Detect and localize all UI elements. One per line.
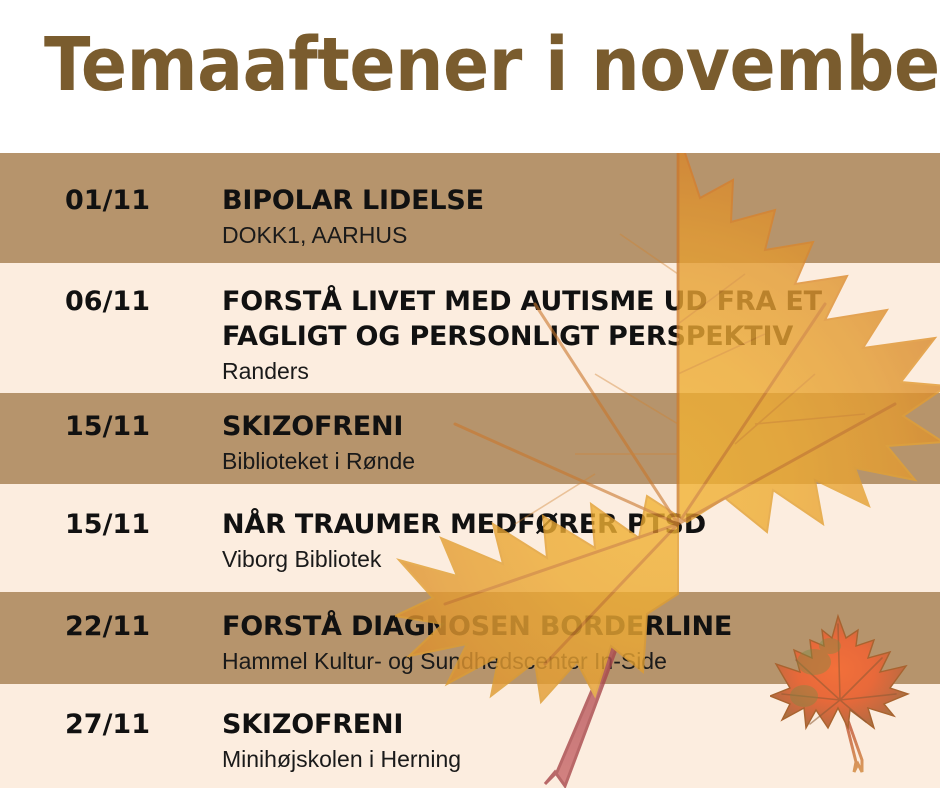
event-list: 01/11 BIPOLAR LIDELSE DOKK1, AARHUS 06/1… [0,153,940,788]
event-row: 15/11 SKIZOFRENI Biblioteket i Rønde [0,393,940,484]
event-venue: Viborg Bibliotek [222,545,930,574]
event-title: NÅR TRAUMER MEDFØRER PTSD [222,507,930,542]
event-date: 15/11 [65,509,150,540]
event-title: BIPOLAR LIDELSE [222,183,930,218]
event-row: 22/11 FORSTÅ DIAGNOSEN BORDERLINE Hammel… [0,592,940,684]
poster-header: Temaaftener i november [0,0,940,153]
event-text-block: FORSTÅ DIAGNOSEN BORDERLINE Hammel Kultu… [222,609,930,676]
event-row: 06/11 FORSTÅ LIVET MED AUTISME UD FRA ET… [0,263,940,393]
event-row: 15/11 NÅR TRAUMER MEDFØRER PTSD Viborg B… [0,484,940,592]
event-text-block: FORSTÅ LIVET MED AUTISME UD FRA ET FAGLI… [222,284,930,386]
event-title: FORSTÅ LIVET MED AUTISME UD FRA ET FAGLI… [222,284,930,354]
event-venue: Hammel Kultur- og Sundhedscenter In-Side [222,647,930,676]
event-date: 15/11 [65,411,150,442]
event-text-block: NÅR TRAUMER MEDFØRER PTSD Viborg Bibliot… [222,507,930,574]
event-text-block: SKIZOFRENI Biblioteket i Rønde [222,409,930,476]
event-venue: Randers [222,357,930,386]
event-row: 01/11 BIPOLAR LIDELSE DOKK1, AARHUS [0,153,940,263]
event-date: 27/11 [65,709,150,740]
event-venue: Biblioteket i Rønde [222,447,930,476]
event-date: 06/11 [65,286,150,317]
event-date: 01/11 [65,185,150,216]
event-venue: Minihøjskolen i Herning [222,745,930,774]
page-title: Temaaftener i november [44,28,940,102]
event-text-block: SKIZOFRENI Minihøjskolen i Herning [222,707,930,774]
event-venue: DOKK1, AARHUS [222,221,930,250]
event-title: FORSTÅ DIAGNOSEN BORDERLINE [222,609,930,644]
event-text-block: BIPOLAR LIDELSE DOKK1, AARHUS [222,183,930,250]
event-row: 27/11 SKIZOFRENI Minihøjskolen i Herning [0,684,940,788]
event-title: SKIZOFRENI [222,707,930,742]
poster-canvas: 01/11 BIPOLAR LIDELSE DOKK1, AARHUS 06/1… [0,0,940,788]
event-date: 22/11 [65,611,150,642]
event-title: SKIZOFRENI [222,409,930,444]
